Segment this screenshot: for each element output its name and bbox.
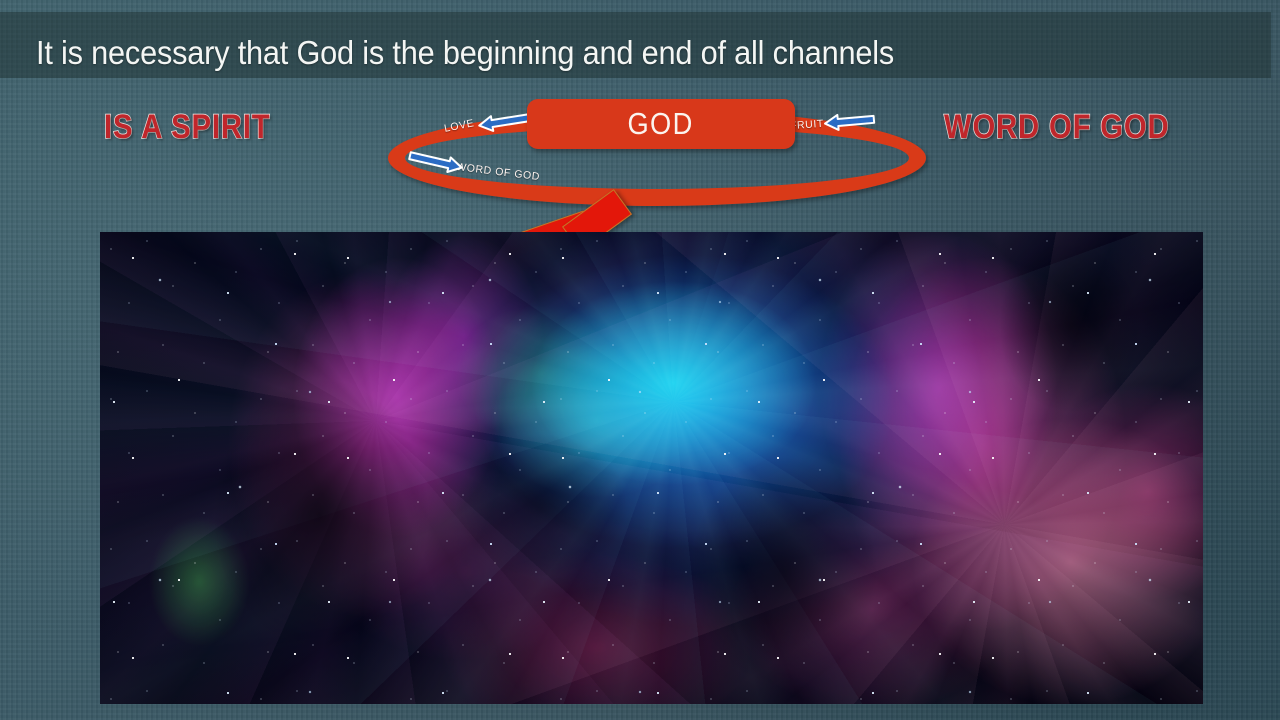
cycle-diagram: LOVE WORD OF GOD FRUIT GOD: [380, 90, 940, 200]
nebula-stars-large: [100, 232, 1203, 704]
slide-canvas: It is necessary that God is the beginnin…: [0, 0, 1280, 720]
label-word-of-god: WORD OF GOD: [944, 108, 1169, 147]
god-callout-box: GOD: [527, 99, 795, 149]
page-title: It is necessary that God is the beginnin…: [36, 34, 1133, 72]
arrow-left-icon-fruit: [822, 112, 876, 132]
title-band: It is necessary that God is the beginnin…: [0, 12, 1271, 78]
god-callout-label: GOD: [628, 106, 694, 142]
arrow-right-icon-word-of-god: [405, 152, 465, 174]
arrow-left-icon-love: [476, 112, 534, 132]
nebula-image: [100, 232, 1203, 704]
label-is-a-spirit: IS A SPIRIT: [104, 108, 271, 147]
